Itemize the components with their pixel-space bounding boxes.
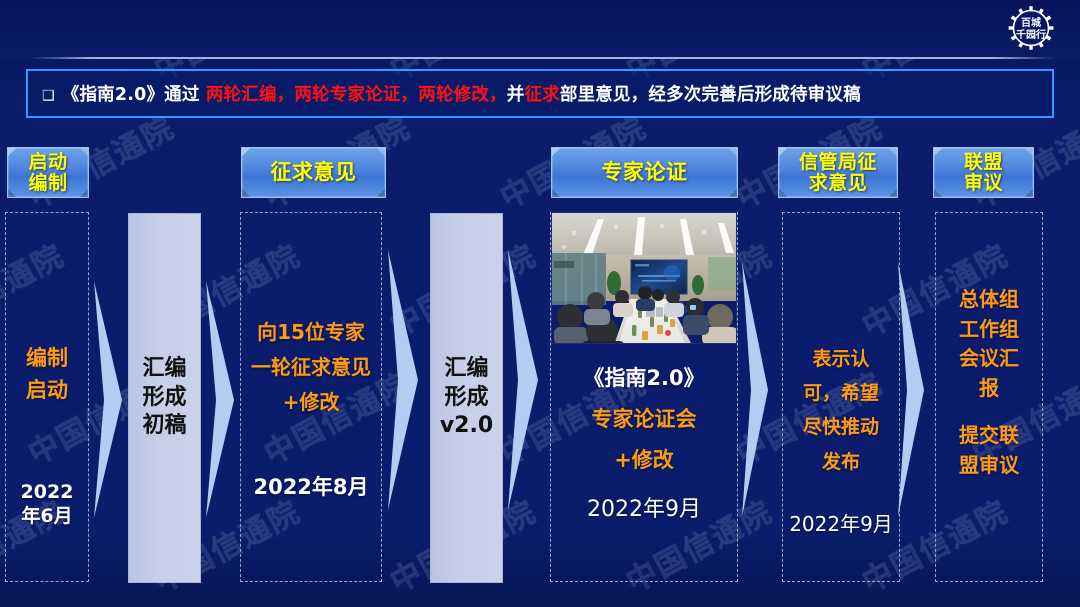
- stage-body-line: 报: [935, 374, 1043, 404]
- flow-arrow-6: [896, 262, 928, 517]
- stage-body-line: 专家论证会: [550, 399, 738, 440]
- stage-date-1: 2022 年6月: [5, 481, 89, 529]
- flow-arrow-1: [92, 281, 126, 518]
- logo-line2-text: 千园行: [1016, 28, 1046, 41]
- stage-body-line: 尽快推动: [782, 410, 900, 444]
- callout-segment: 部里意见，: [560, 85, 649, 105]
- output-bar-huibian-chugao: 汇编 形成 初稿: [128, 213, 201, 583]
- stage-date-3: 2022年9月: [550, 496, 738, 524]
- callout-bullet-icon: ❑: [42, 88, 55, 104]
- stage-body-spacer: [935, 403, 1043, 421]
- flow-arrow-5: [740, 262, 772, 517]
- flow-arrow-4: [506, 250, 542, 510]
- stage-body-line: +修改: [550, 440, 738, 481]
- stage-chip-label: 联盟 审议: [964, 152, 1003, 193]
- stage-body-line: 会议汇: [935, 344, 1043, 374]
- callout-segment: 征求: [524, 85, 559, 105]
- stage-body-line: 盟审议: [935, 451, 1043, 481]
- stage-body-line: 发布: [782, 445, 900, 479]
- stage-body-line: +修改: [240, 385, 382, 420]
- callout-segment: 两轮专家论证，: [294, 85, 418, 105]
- logo-line1-text: 百城: [1021, 16, 1041, 29]
- callout-segment: 经多次完善后形成待审议稿: [648, 85, 860, 105]
- stage-body-line: 提交联: [935, 421, 1043, 451]
- stage-chip-lianmeng-shenyi[interactable]: 联盟 审议: [933, 147, 1034, 198]
- output-bar-huibian-v2: 汇编 形成 v2.0: [430, 213, 503, 583]
- stage-body-line: 向15位专家: [240, 315, 382, 350]
- stage-body-line: 总体组: [935, 285, 1043, 315]
- expert-meeting-photo: [551, 212, 737, 344]
- flow-arrow-2: [204, 281, 238, 518]
- stage-body-5: 总体组 工作组 会议汇 报 提交联 盟审议: [935, 285, 1043, 481]
- stage-chip-label: 启动 编制: [28, 152, 67, 193]
- output-bar-label: 汇编 形成 初稿: [142, 355, 186, 441]
- callout-segment: 《指南2.0》通过: [62, 85, 206, 105]
- stage-body-line: 编制: [5, 343, 89, 375]
- stage-body-line: 启动: [5, 375, 89, 407]
- stage-body-line: 工作组: [935, 315, 1043, 345]
- output-bar-label: 汇编 形成 v2.0: [440, 355, 493, 441]
- stage-chip-xinguanju-zhengqiu[interactable]: 信管局征 求意见: [778, 147, 898, 198]
- callout-segment: 两轮汇编，: [206, 85, 295, 105]
- stage-chip-label: 信管局征 求意见: [799, 152, 877, 193]
- stage-chip-zhengqiu-yijian[interactable]: 征求意见: [241, 147, 386, 198]
- stage-body-line: 表示认: [782, 342, 900, 376]
- stage-chip-zhuanjia-lunzheng[interactable]: 专家论证: [551, 147, 738, 198]
- callout-text: ❑《指南2.0》通过 两轮汇编，两轮专家论证，两轮修改，并征求部里意见，经多次完…: [28, 81, 861, 106]
- stage-body-4: 表示认 可，希望 尽快推动 发布: [782, 342, 900, 479]
- stage-body-2: 向15位专家 一轮征求意见 +修改: [240, 315, 382, 420]
- stage-body-3: 《指南2.0》 专家论证会 +修改: [550, 358, 738, 481]
- flow-arrow-3: [386, 250, 422, 510]
- slide-root: 中国信通院中国信通院中国信通院中国信通院中国信通院中国信通院中国信通院中国信通院…: [0, 0, 1080, 607]
- stage-chip-label: 专家论证: [602, 161, 688, 184]
- stage-chip-label: 征求意见: [271, 161, 357, 184]
- stage-body-line: 可，希望: [782, 376, 900, 410]
- baicheng-qianyuanxing-gear-logo: 百城 千园行: [1004, 3, 1058, 55]
- title-band: [0, 0, 1080, 59]
- stage-date-4: 2022年9月: [782, 512, 900, 537]
- callout-segment: 并: [507, 85, 525, 105]
- stage-body-title-3: 《指南2.0》: [550, 358, 738, 399]
- stage-date-2: 2022年8月: [240, 474, 382, 500]
- callout-box: ❑《指南2.0》通过 两轮汇编，两轮专家论证，两轮修改，并征求部里意见，经多次完…: [26, 69, 1054, 118]
- stage-body-line: 一轮征求意见: [240, 350, 382, 385]
- stage-body-1: 编制 启动: [5, 343, 89, 406]
- callout-segment: 两轮修改，: [418, 85, 507, 105]
- stage-chip-qidong-bianzhi[interactable]: 启动 编制: [7, 147, 89, 198]
- title-divider: [30, 57, 1056, 59]
